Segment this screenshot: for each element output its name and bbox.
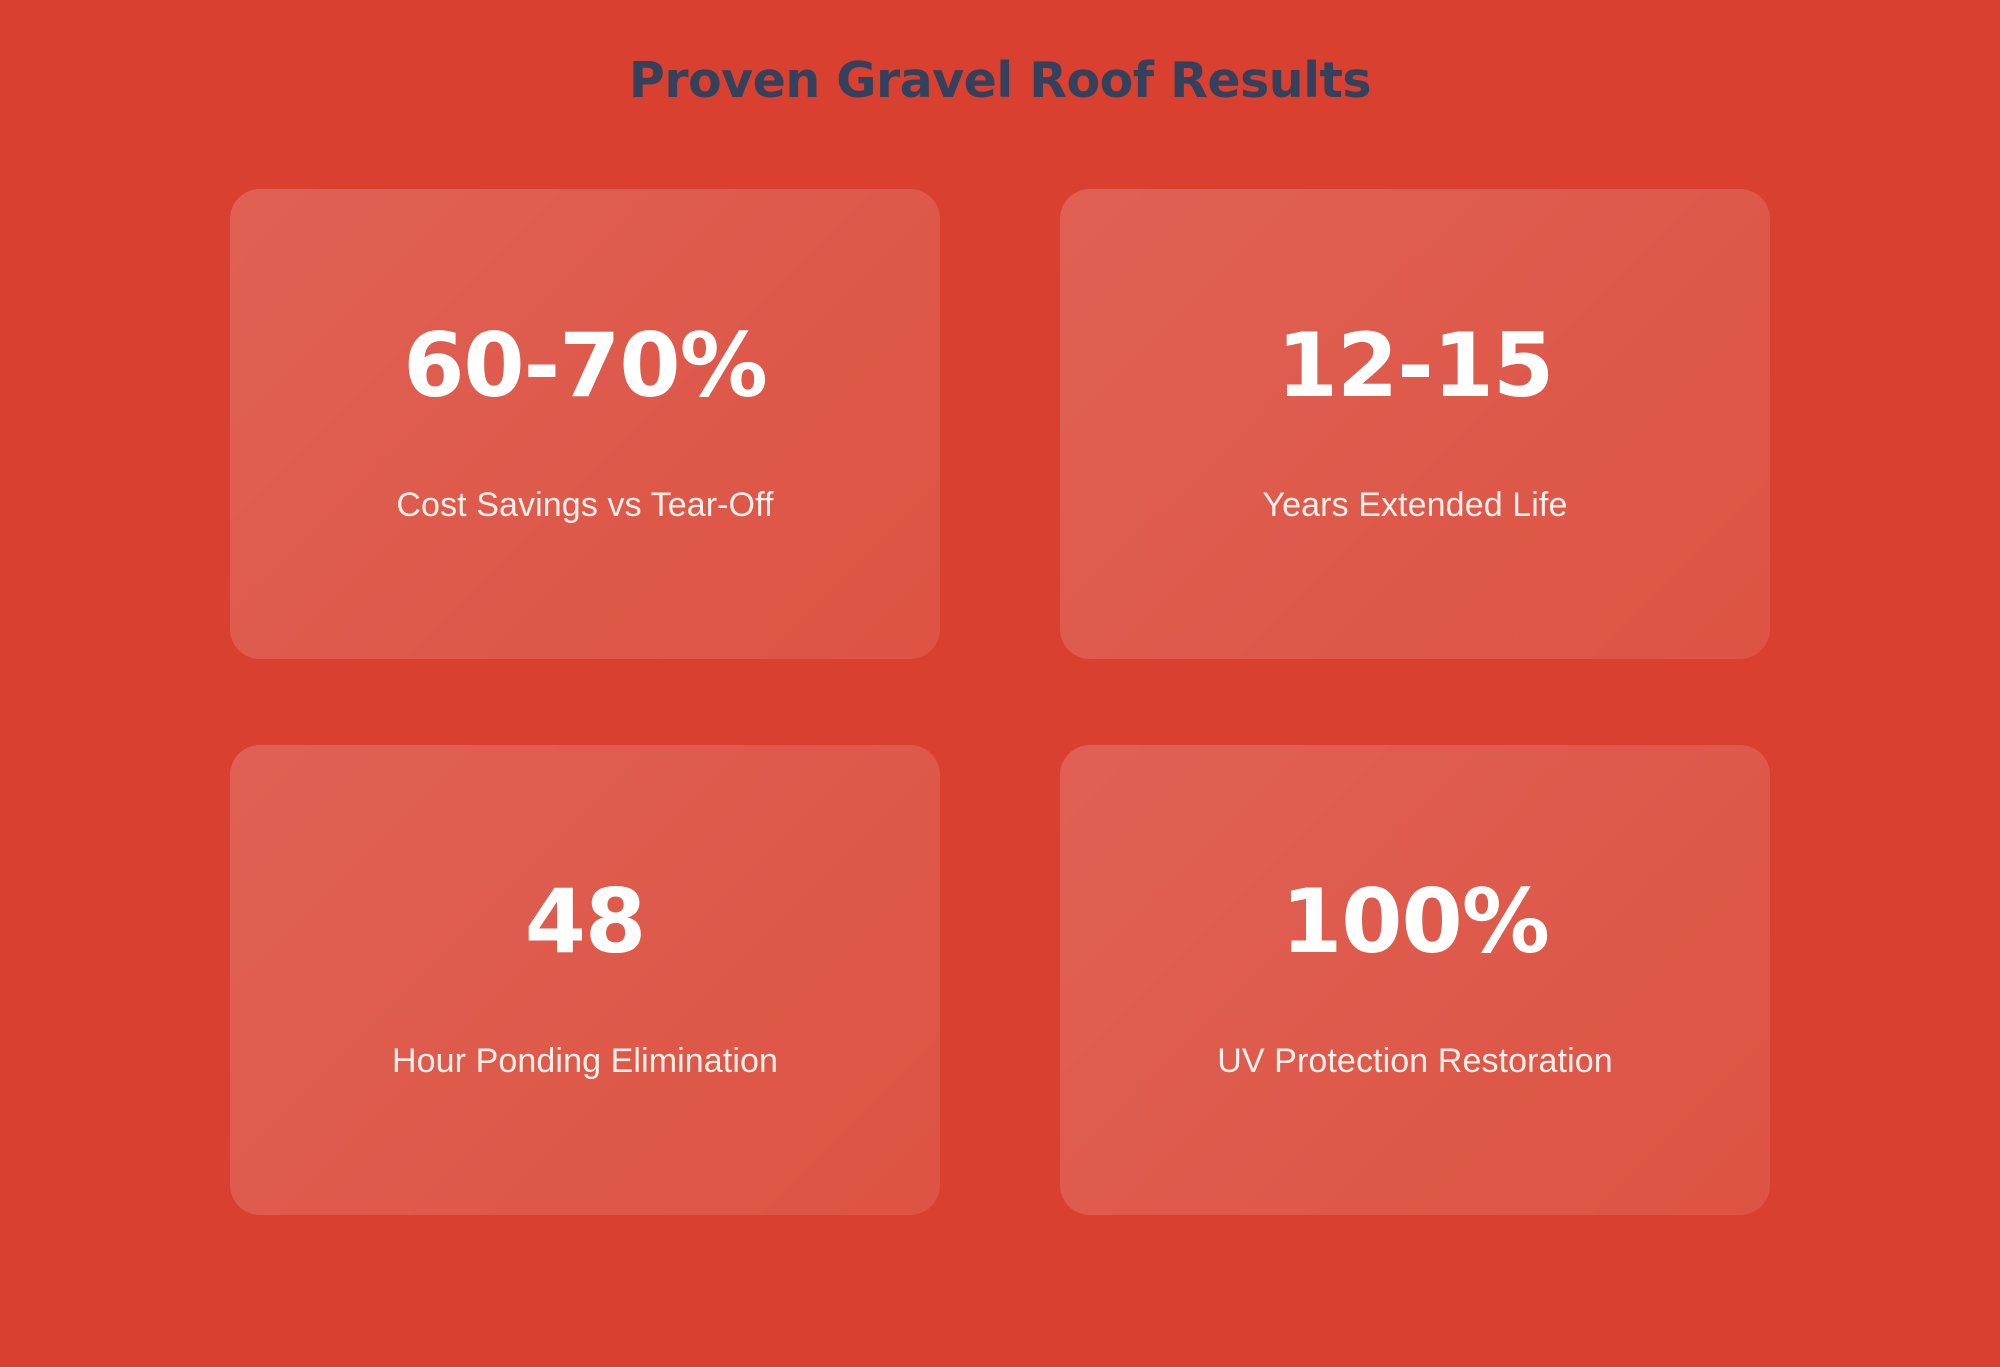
stat-label: Hour Ponding Elimination: [392, 1040, 778, 1083]
stat-card-uv-protection: 100% UV Protection Restoration: [1060, 745, 1770, 1215]
stats-grid: 60-70% Cost Savings vs Tear-Off 12-15 Ye…: [230, 189, 1770, 1215]
stat-card-ponding-elimination: 48 Hour Ponding Elimination: [230, 745, 940, 1215]
stat-label: UV Protection Restoration: [1217, 1040, 1613, 1083]
stats-section: Proven Gravel Roof Results 60-70% Cost S…: [0, 0, 2000, 1367]
page-title: Proven Gravel Roof Results: [629, 52, 1371, 111]
stat-number: 12-15: [1277, 322, 1553, 410]
stat-label: Cost Savings vs Tear-Off: [396, 484, 773, 527]
stat-card-cost-savings: 60-70% Cost Savings vs Tear-Off: [230, 189, 940, 659]
stat-label: Years Extended Life: [1263, 484, 1568, 527]
stat-number: 60-70%: [403, 322, 767, 410]
stat-number: 48: [525, 878, 645, 966]
stat-number: 100%: [1281, 878, 1549, 966]
stat-card-extended-life: 12-15 Years Extended Life: [1060, 189, 1770, 659]
